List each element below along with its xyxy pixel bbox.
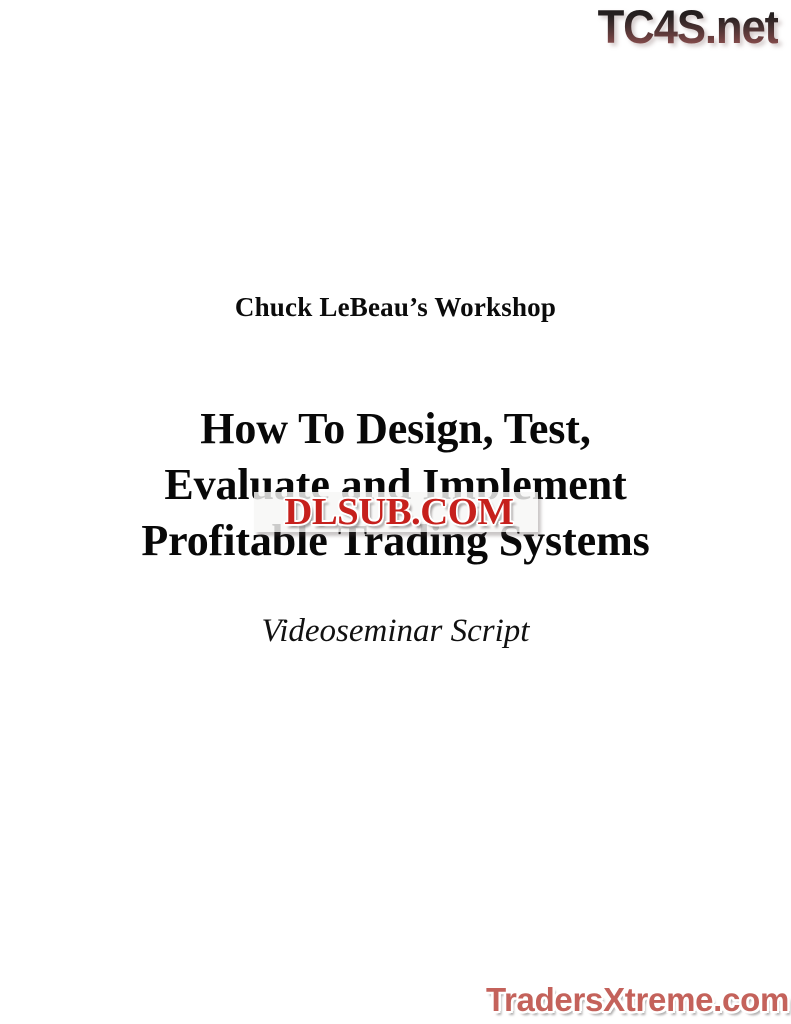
tc4s-watermark: TC4S.net bbox=[597, 2, 778, 52]
document-page: TC4S.net TC4S.net Chuck LeBeau’s Worksho… bbox=[0, 0, 791, 1024]
page-title-line-1: How To Design, Test, bbox=[0, 401, 791, 457]
tradersxtreme-watermark: TradersXtreme.com bbox=[486, 980, 789, 1020]
dlsub-watermark-group: DLSUB.COM bbox=[252, 489, 540, 535]
page-subtitle: Videoseminar Script bbox=[0, 610, 791, 652]
dlsub-watermark: DLSUB.COM bbox=[252, 489, 546, 535]
presenter-line: Chuck LeBeau’s Workshop bbox=[0, 291, 791, 323]
page-title: How To Design, Test, Evaluate and Implem… bbox=[0, 401, 791, 569]
